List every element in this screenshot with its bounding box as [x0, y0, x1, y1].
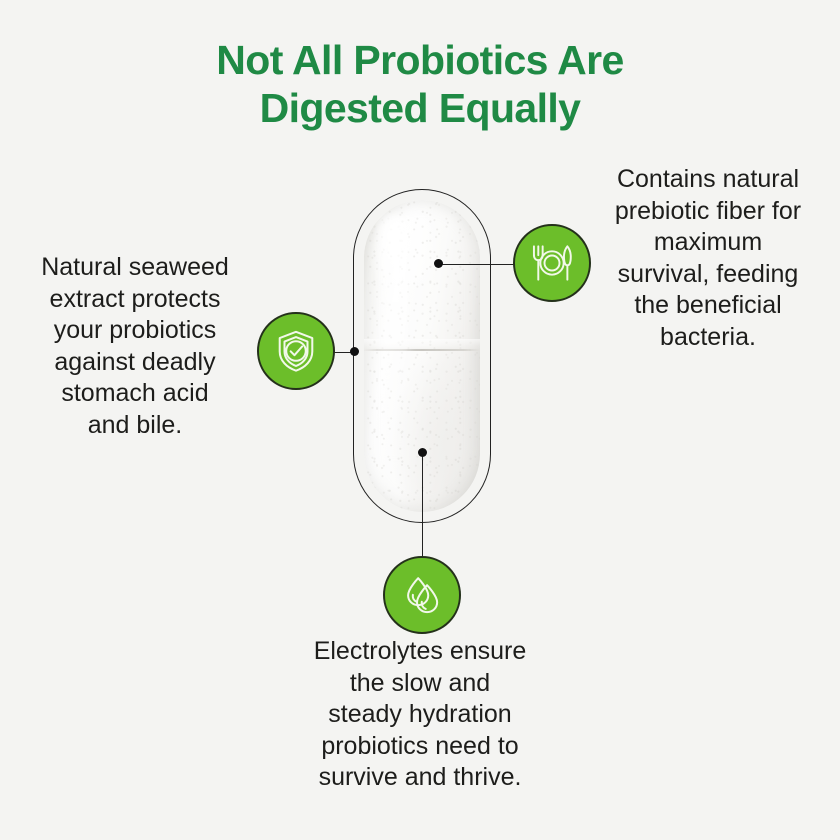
- water-droplets-icon: [399, 572, 445, 618]
- capsule-seam: [364, 349, 480, 351]
- feature-badge-electrolytes-hydration[interactable]: [383, 556, 461, 634]
- shield-check-icon: [273, 328, 319, 374]
- connector-line-right: [440, 264, 514, 266]
- feature-caption-seaweed-protection: Natural seaweed extract protects your pr…: [6, 252, 264, 441]
- infographic-canvas: Not All Probiotics Are Digested Equally: [0, 0, 840, 840]
- feature-caption-prebiotic-fiber: Contains natural prebiotic fiber for max…: [580, 164, 836, 353]
- feature-badge-seaweed-protection[interactable]: [257, 312, 335, 390]
- page-title: Not All Probiotics Are Digested Equally: [0, 36, 840, 133]
- connector-dot-bottom: [418, 448, 427, 457]
- connector-dot-left: [350, 347, 359, 356]
- connector-dot-right: [434, 259, 443, 268]
- feature-caption-electrolytes-hydration: Electrolytes ensure the slow and steady …: [280, 636, 560, 794]
- plate-fork-knife-icon: [527, 240, 577, 286]
- connector-line-bottom: [422, 455, 424, 557]
